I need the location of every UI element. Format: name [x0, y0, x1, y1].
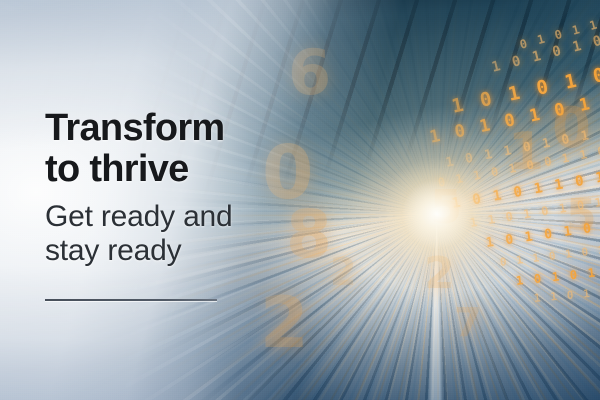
binary-digit-row: 1 1 0 1 0 1 [533, 284, 600, 305]
headline-line-2: to thrive [45, 149, 345, 190]
subtitle: Get ready and stay ready [45, 200, 345, 268]
horizontal-rule [45, 299, 217, 301]
headline-line-1: Transform [45, 108, 345, 149]
copy-block: Transform to thrive Get ready and stay r… [45, 108, 345, 301]
page-title: Transform to thrive [45, 108, 345, 190]
hero-banner: 60825271052 1 0 1 0 1 0 1 0 11 0 1 0 1 0… [0, 0, 600, 400]
subheadline-line-1: Get ready and [45, 200, 345, 234]
subheadline-line-2: stay ready [45, 234, 345, 268]
